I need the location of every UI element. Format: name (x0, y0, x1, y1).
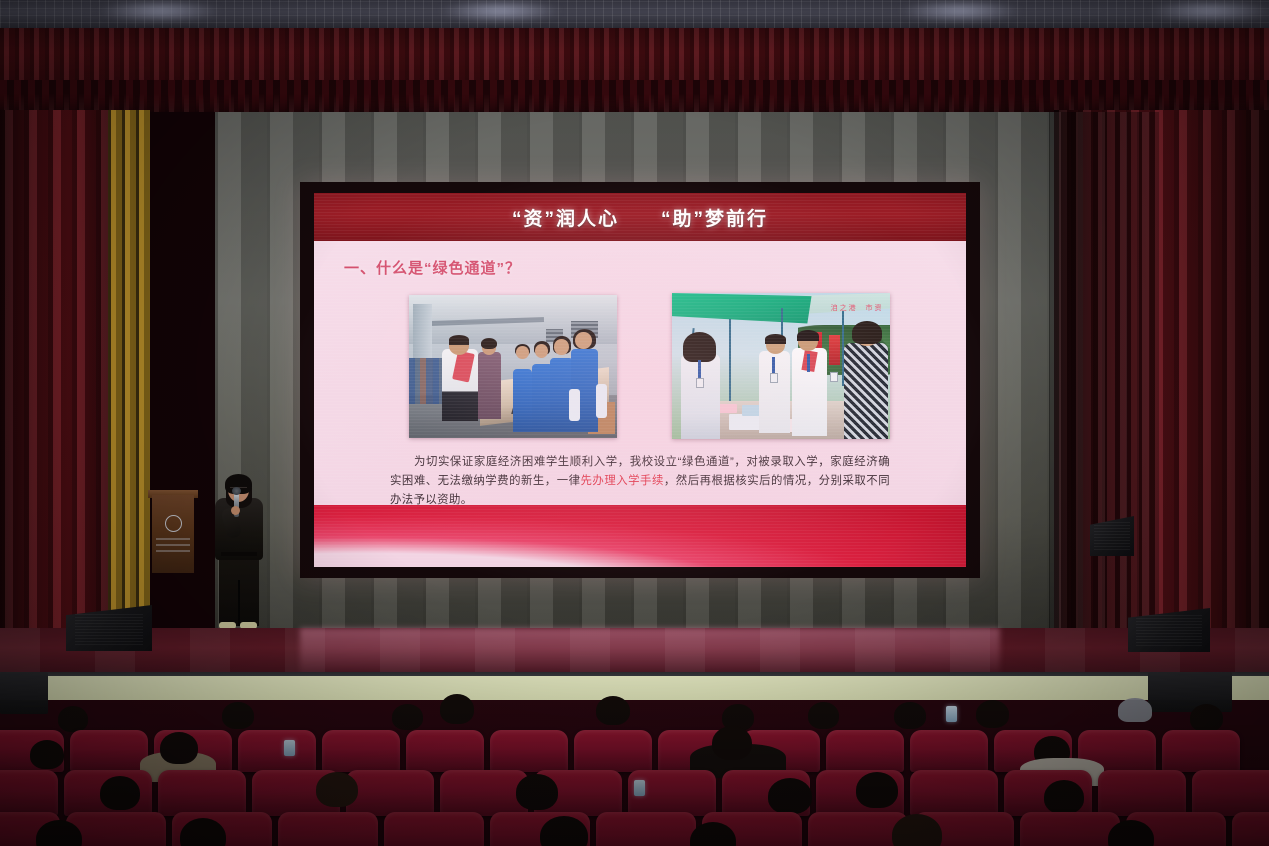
seat (406, 730, 484, 772)
seat (1192, 770, 1269, 816)
audience-head (440, 694, 474, 724)
seat (910, 730, 988, 772)
seat (910, 770, 998, 816)
audience-head (1190, 704, 1223, 732)
audience-head (856, 772, 898, 808)
audience-head (222, 702, 254, 729)
audience-head (160, 732, 198, 764)
slide-header-band: “资”润人心 “助”梦前行 (314, 193, 966, 241)
seat (70, 730, 148, 772)
seat (596, 812, 696, 846)
ceiling-light (440, 0, 560, 22)
audience-phone (634, 780, 645, 796)
audience-head (316, 772, 358, 807)
slide-footer-swoosh (314, 505, 966, 567)
booth-banner-text: 洎之港 市资 (809, 303, 883, 316)
ceiling-light (900, 0, 1020, 22)
audience-head (976, 700, 1009, 728)
podium-inscription (156, 536, 190, 552)
auditorium-scene: “资”润人心 “助”梦前行 一、什么是“绿色通道”？ (0, 0, 1269, 846)
presentation-slide: “资”润人心 “助”梦前行 一、什么是“绿色通道”？ (314, 193, 966, 567)
slide-paragraph: 为切实保证家庭经济困难学生顺利入学，我校设立“绿色通道”，对被录取入学，家庭经济… (390, 453, 890, 510)
audience-head (1044, 780, 1084, 814)
seat (1232, 812, 1269, 846)
seat (1020, 812, 1120, 846)
seat (574, 730, 652, 772)
gold-curtain-panel (108, 110, 150, 635)
audience-head (712, 726, 752, 760)
seat (1162, 730, 1240, 772)
speaker-belt (221, 552, 257, 556)
audience-head-with-cap (1118, 698, 1152, 722)
paragraph-highlight: 先办理入学手续 (581, 475, 664, 487)
podium (152, 495, 194, 573)
audience-head (516, 774, 558, 810)
stage-curtain-right-inner (1049, 112, 1159, 660)
stage-floor-sheen (0, 628, 1269, 678)
seat (158, 770, 246, 816)
slide-body: 一、什么是“绿色通道”？ (314, 241, 966, 567)
seat (490, 730, 568, 772)
wall-speaker-box (1148, 672, 1232, 712)
slide-photo-left (409, 295, 617, 438)
slide-title: “资”润人心 “助”梦前行 (512, 204, 768, 231)
ceiling-light (1150, 0, 1269, 22)
audience-phone (284, 740, 295, 756)
seat (0, 770, 58, 816)
audience-head (100, 776, 140, 810)
speaker-hand (231, 506, 240, 515)
projection-screen-frame: “资”润人心 “助”梦前行 一、什么是“绿色通道”？ (300, 182, 980, 578)
audience-head (894, 702, 926, 729)
seat (440, 770, 528, 816)
valance-fringe (0, 80, 1269, 114)
seat (1098, 770, 1186, 816)
seat (346, 770, 434, 816)
seat (322, 730, 400, 772)
seat (278, 812, 378, 846)
seat (384, 812, 484, 846)
audience-head (58, 706, 88, 732)
seat (826, 730, 904, 772)
ceiling-light (100, 0, 220, 22)
podium-emblem-icon (165, 515, 182, 532)
slide-photo-right: 洎之港 市资 (672, 293, 890, 439)
audience-head (768, 778, 812, 814)
ceiling-panel (0, 0, 1269, 30)
speaker-leg-split (238, 580, 240, 626)
seat (238, 730, 316, 772)
audience-head (808, 702, 839, 729)
slide-subtitle: 一、什么是“绿色通道”？ (344, 257, 521, 278)
audience-head (30, 740, 64, 769)
stage-valance (0, 28, 1269, 114)
microphone-head-icon (232, 487, 241, 495)
audience-head (392, 704, 423, 730)
wall-speaker-box (0, 672, 48, 714)
audience-head (596, 696, 630, 725)
audience-area (0, 700, 1269, 846)
audience-phone (946, 706, 957, 722)
